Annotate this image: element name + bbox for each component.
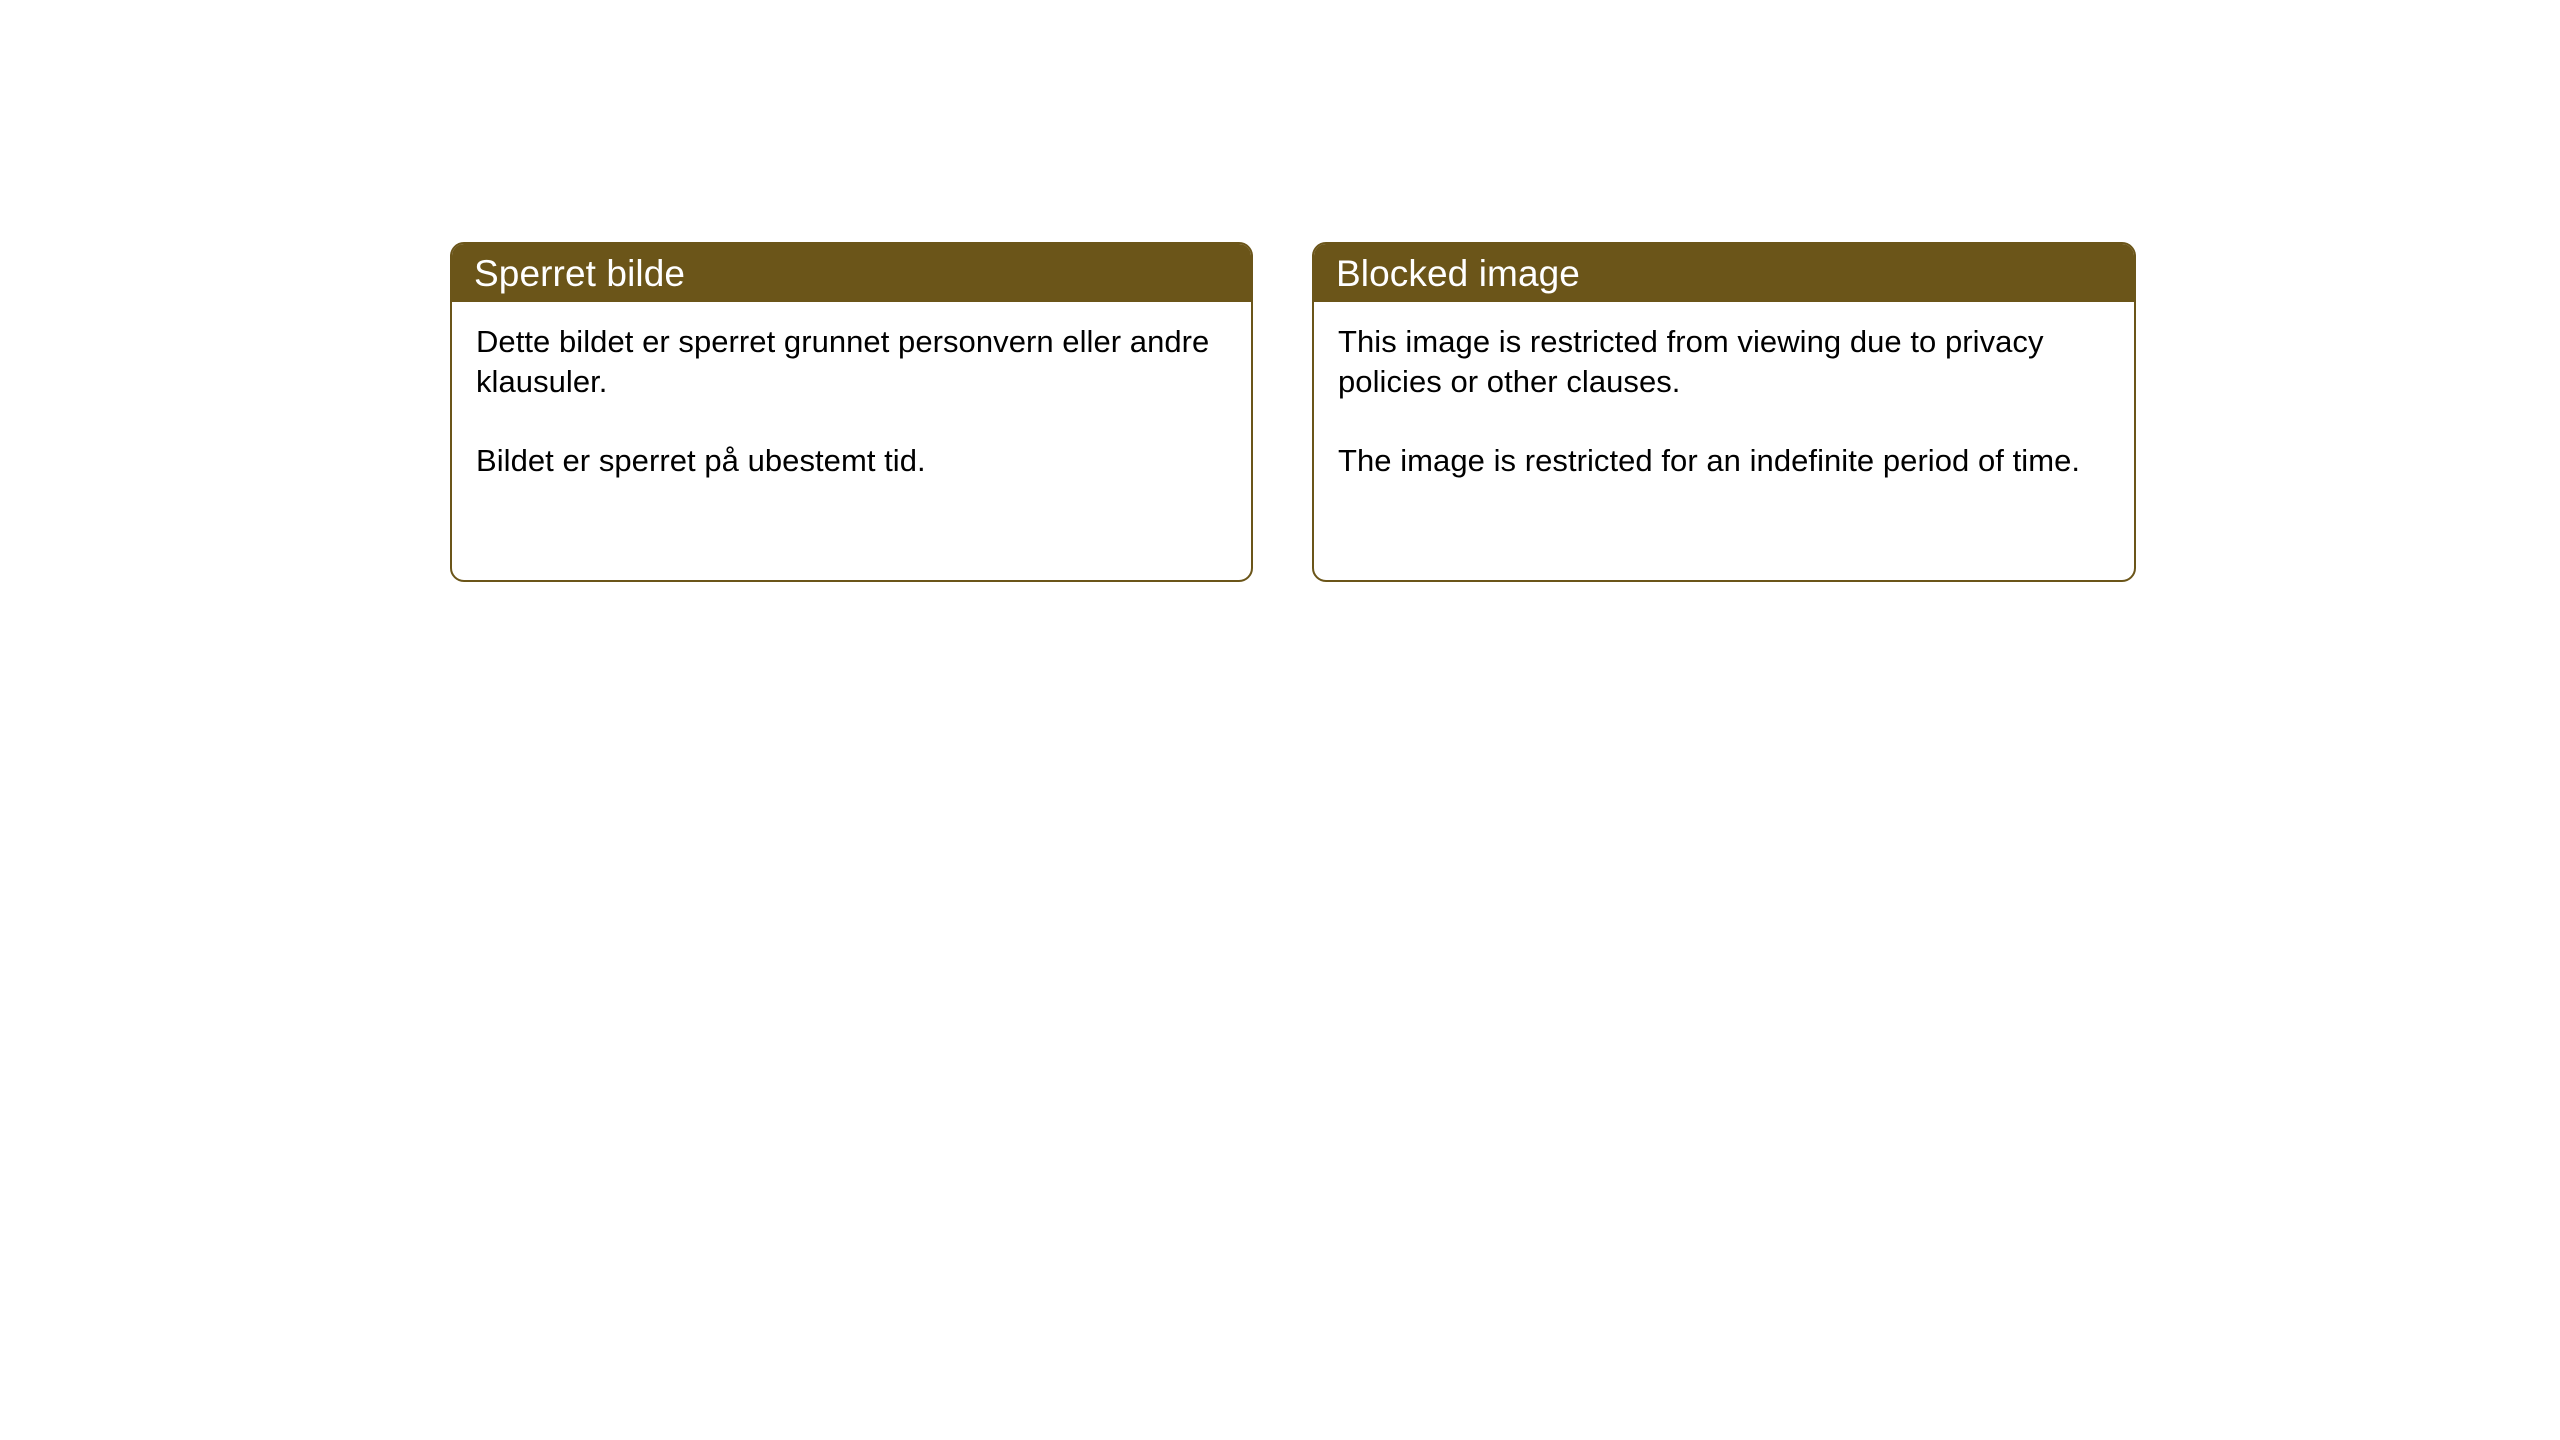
blocked-image-notice-norwegian: Sperret bilde Dette bildet er sperret gr…: [450, 242, 1253, 582]
blocked-image-notice-english: Blocked image This image is restricted f…: [1312, 242, 2136, 582]
card-header-english: Blocked image: [1314, 244, 2134, 302]
page-root: Sperret bilde Dette bildet er sperret gr…: [0, 0, 2560, 1440]
card-paragraph-secondary-norwegian: Bildet er sperret på ubestemt tid.: [476, 441, 1227, 481]
card-paragraph-secondary-english: The image is restricted for an indefinit…: [1338, 441, 2110, 481]
card-header-norwegian: Sperret bilde: [452, 244, 1251, 302]
card-title-english: Blocked image: [1336, 255, 1580, 292]
card-title-norwegian: Sperret bilde: [474, 255, 685, 292]
card-body-norwegian: Dette bildet er sperret grunnet personve…: [452, 302, 1251, 481]
card-paragraph-primary-norwegian: Dette bildet er sperret grunnet personve…: [476, 322, 1227, 401]
card-paragraph-primary-english: This image is restricted from viewing du…: [1338, 322, 2110, 401]
card-body-english: This image is restricted from viewing du…: [1314, 302, 2134, 481]
